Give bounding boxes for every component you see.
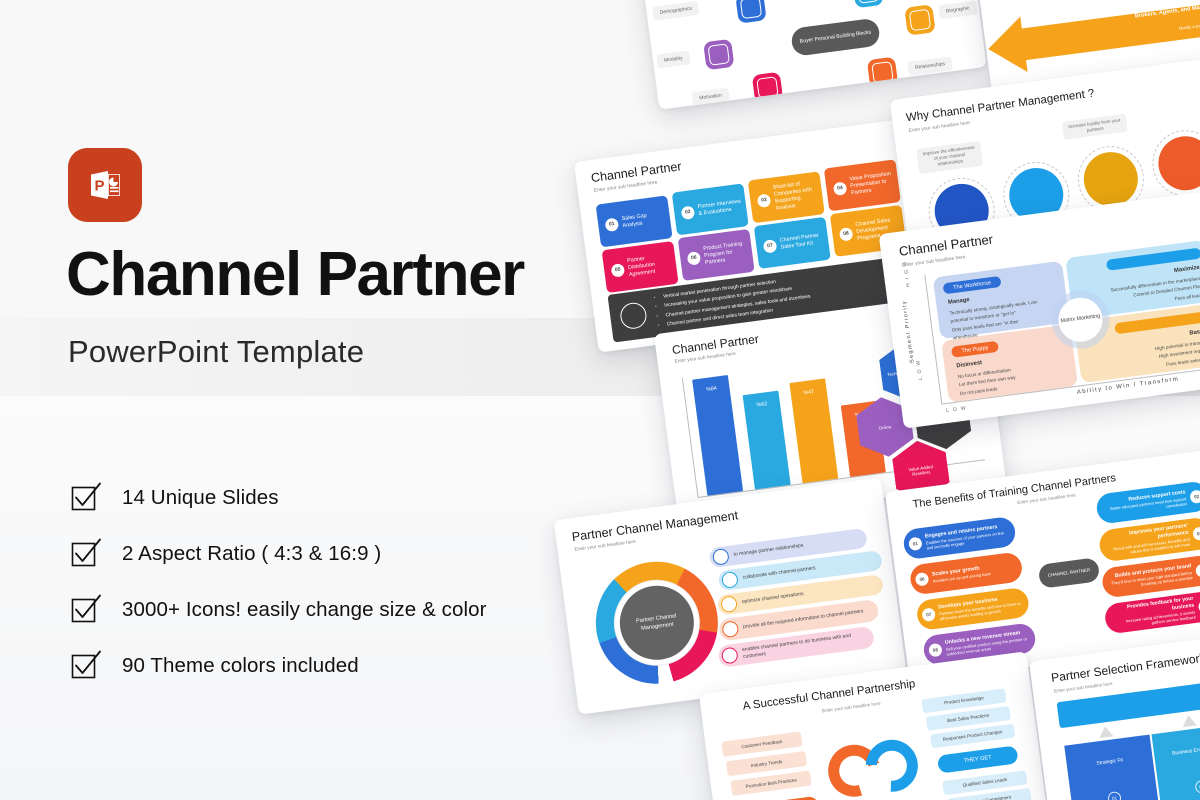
feature-label: 90 Theme colors included: [122, 654, 359, 678]
tile-04[interactable]: 04 Value Proposition Presentation to Par…: [824, 159, 901, 211]
up-arrow-2: [1181, 714, 1196, 727]
tile-number: 02: [681, 205, 696, 220]
bar-value: %47: [791, 387, 827, 398]
list-item: 14 Unique Slides: [70, 470, 590, 526]
benefit-text: Engages and retains partners Enables the…: [925, 523, 1011, 552]
benefit-text: Builds and protects your brand They'd lo…: [1109, 563, 1193, 591]
tile-number: 08: [839, 227, 854, 242]
framework-column-02[interactable]: Business Engagement 02: [1151, 723, 1200, 800]
tile-number: 07: [763, 239, 778, 254]
benefit-text: Reduces support costs Better educated pa…: [1104, 489, 1188, 517]
benefit-number: 03: [1192, 526, 1200, 541]
list-item: 2 Aspect Ratio ( 4:3 & 16:9 ): [70, 526, 590, 582]
benefit-number: 06: [915, 572, 930, 587]
feature-label: 2 Aspect Ratio ( 4:3 & 16:9 ): [122, 542, 381, 566]
tile-number: 03: [757, 193, 772, 208]
tile-label: Partner Interviews & Evaluations: [697, 198, 743, 218]
slide-title: Partner Selection Framework: [1050, 651, 1200, 685]
list-item: 3000+ Icons! easily change size & color: [70, 582, 590, 638]
feature-label: 3000+ Icons! easily change size & color: [122, 598, 487, 622]
persona-icon-biographic2: [904, 4, 935, 35]
benefit-text: Develops your business Partners learn th…: [938, 594, 1024, 623]
step-icon-03: [720, 595, 738, 613]
bar-gold: %62: [743, 391, 791, 490]
column-number: 01: [1107, 791, 1122, 800]
slide-subtitle: Enter your sub headline here: [909, 121, 971, 134]
benefit-text: Provides feedback for your business Incr…: [1112, 596, 1197, 631]
bar-silver: %84: [692, 375, 743, 496]
benefit-right-02[interactable]: 02 Reduces support costs Better educated…: [1095, 480, 1200, 524]
up-arrow-1: [1098, 725, 1113, 738]
feature-label: 14 Unique Slides: [122, 486, 279, 510]
persona-label-relationships: Relationships: [907, 56, 952, 76]
persona-icon-motivation: [752, 72, 783, 103]
benefit-text: Scales your growth Avoiders are up and p…: [932, 561, 1017, 584]
mindmap-center-node: Buyer Personal Building Blocks: [790, 18, 881, 57]
step-icon-05: [721, 647, 739, 665]
tile-label: Partner Distribution Agreement: [627, 252, 673, 279]
framework-column-01[interactable]: Strategic Fit 01: [1064, 735, 1159, 800]
powerpoint-icon: P: [68, 148, 142, 222]
benefit-number: 08: [928, 643, 943, 658]
bullets-icon: [619, 301, 648, 330]
persona-icon-biographic: [852, 0, 883, 8]
matrix-y-low: L O W: [915, 359, 924, 381]
checkbox-checked-icon: [70, 537, 104, 571]
persona-icon-demographics: [735, 0, 766, 24]
tile-01[interactable]: 01 Sales Gap Analysis: [596, 195, 673, 247]
benefit-title: Provides feedback for your business: [1127, 596, 1195, 612]
persona-label-motivation: Motivation: [691, 88, 729, 107]
column-label: Business Engagement: [1158, 742, 1200, 759]
benefit-text: Improves your partners' performance Prou…: [1106, 523, 1191, 558]
tile-label: Sales Gap Analysis: [621, 210, 667, 230]
page-subtitle: PowerPoint Template: [68, 334, 364, 370]
persona-label-demographics: Demographics: [652, 1, 700, 21]
tile-02[interactable]: 02 Partner Interviews & Evaluations: [672, 183, 749, 235]
tile-label: Channel Partner Sales Tool Kit: [779, 231, 825, 251]
bar-value: %84: [693, 384, 729, 395]
benefit-right-03[interactable]: 03 Improves your partners' performance P…: [1098, 516, 1200, 562]
tile-number: 06: [687, 251, 702, 266]
matrix-center-text: Matrix Marketing: [1060, 314, 1100, 326]
matrix-y-axis-label: Segment Priority: [901, 299, 915, 363]
why-caption-2: Increase loyalty from your partners: [1062, 114, 1128, 141]
tile-05[interactable]: 05 Partner Distribution Agreement: [602, 241, 679, 293]
donut-center-label: Partner Channel Management: [629, 611, 685, 635]
benefit-right-04[interactable]: 04 Builds and protects your brand They'd…: [1101, 554, 1200, 598]
checkbox-checked-icon: [70, 481, 104, 515]
hero-panel: P Channel Partner PowerPoint Template 14…: [0, 0, 600, 800]
why-caption-1: Improve the effectiveness of your channe…: [916, 141, 983, 174]
benefit-number: 01: [908, 537, 923, 552]
list-item: 90 Theme colors included: [70, 638, 590, 694]
benefit-desc: Proud with and sell necessary, benefits …: [1108, 537, 1191, 558]
persona-icon-relationships: [867, 57, 898, 88]
persona-label-biographic: Biographic: [938, 1, 977, 20]
column-number: 02: [1194, 779, 1200, 794]
matrix-x-low: L O W: [946, 405, 968, 414]
tile-label: Short-list of Companies with Supporting …: [772, 179, 819, 214]
left-arrow-head: [985, 17, 1028, 77]
benefits-center-node: CHANNEL PARTNER: [1038, 557, 1101, 589]
slide-title: Channel Partner: [898, 232, 994, 259]
slide-title: Channel Partner: [671, 332, 759, 357]
persona-label-modality: Modality: [656, 50, 690, 68]
benefit-number: 07: [921, 607, 936, 622]
tile-03[interactable]: 03 Short-list of Companies with Supporti…: [748, 171, 825, 223]
bar-value: %62: [744, 400, 780, 411]
checkbox-checked-icon: [70, 593, 104, 627]
bar-platinum: %47: [789, 378, 838, 483]
page-title: Channel Partner: [66, 243, 586, 306]
checkbox-checked-icon: [70, 649, 104, 683]
slide-channel-partner-matrix[interactable]: Channel Partner Enter your sub headline …: [879, 191, 1200, 428]
step-icon-01: [712, 548, 730, 566]
they-get-button[interactable]: THEY GET: [937, 745, 1019, 773]
tile-number: 04: [833, 181, 848, 196]
why-circle-outline-4: [1148, 126, 1200, 200]
tile-label: Product Training Program for Partners: [703, 240, 749, 267]
tile-07[interactable]: 07 Channel Partner Sales Tool Kit: [754, 217, 831, 269]
tile-label: Value Proposition Presentation to Partne…: [849, 170, 895, 197]
you-get-button[interactable]: You Get: [738, 796, 820, 800]
benefit-number: 02: [1189, 489, 1200, 504]
benefit-number: 04: [1195, 563, 1200, 578]
slide-buyer-persona[interactable]: Buyer Personal Building Blocks Demograph…: [635, 0, 986, 110]
step-icon-04: [721, 620, 739, 638]
tile-06[interactable]: 06 Product Training Program for Partners: [678, 229, 755, 281]
persona-icon-modality: [703, 39, 734, 70]
tile-number: 05: [611, 263, 626, 278]
step-icon-02: [721, 571, 739, 589]
slide-subtitle: Enter your sub headline here: [822, 701, 881, 714]
svg-text:P: P: [95, 178, 105, 195]
promo-banner: Buyer Personal Building Blocks Demograph…: [0, 0, 1200, 800]
slide-title: Why Channel Partner Management ?: [905, 88, 1095, 125]
feature-list: 14 Unique Slides 2 Aspect Ratio ( 4:3 & …: [70, 470, 590, 694]
quadrant-header: The Puppy: [951, 341, 999, 358]
column-label: Strategic Fit: [1071, 754, 1149, 771]
tile-number: 01: [605, 217, 620, 232]
benefit-desc: Increase rating achievements, it assists…: [1114, 610, 1197, 631]
